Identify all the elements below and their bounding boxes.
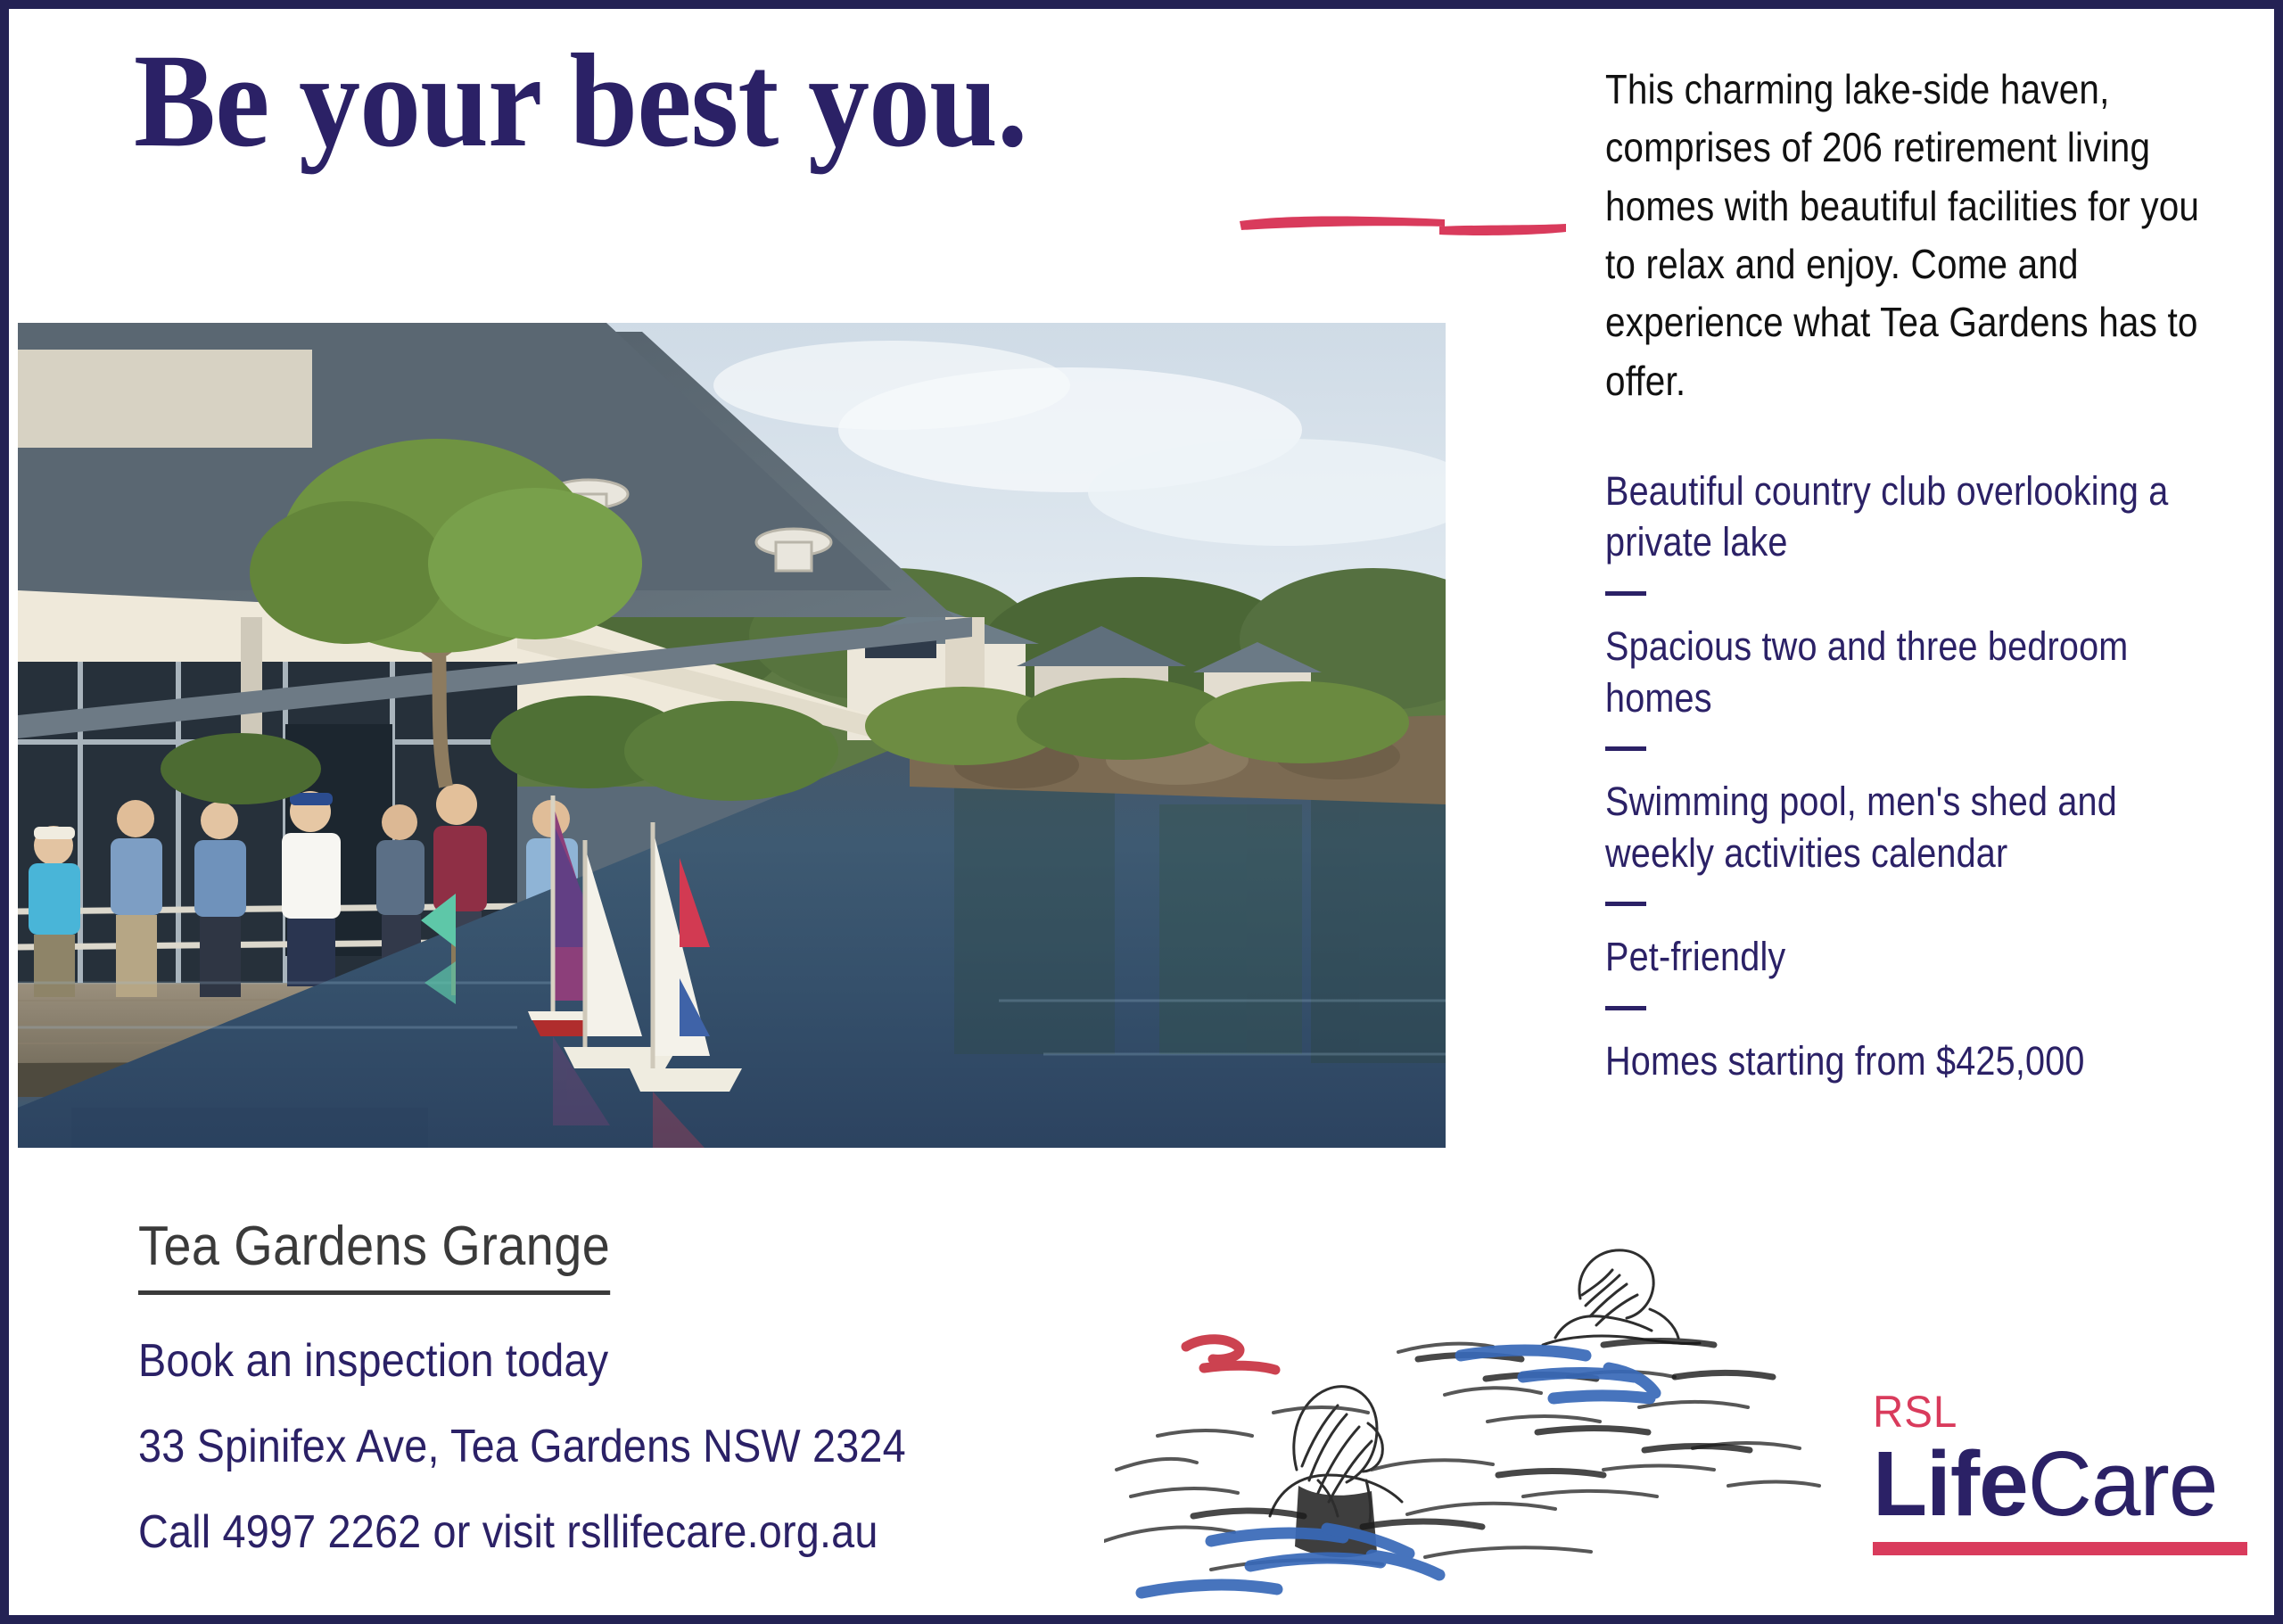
venue-name: Tea Gardens Grange — [138, 1215, 610, 1295]
photo-illustration — [18, 323, 1446, 1148]
feature-item: Spacious two and three bedroom homes — [1605, 621, 2202, 723]
feature-item: Pet-friendly — [1605, 931, 2202, 983]
swimmers-illustration — [1104, 1202, 1826, 1603]
feature-separator — [1605, 591, 1646, 596]
feature-separator — [1605, 1006, 1646, 1010]
contact-phone-website[interactable]: Call 4997 2262 or visit rsllifecare.org.… — [138, 1509, 906, 1555]
feature-item: Beautiful country club overlooking a pri… — [1605, 466, 2202, 568]
feature-separator — [1605, 902, 1646, 906]
advertisement-page: Be your best you. — [0, 0, 2283, 1624]
logo-care-word: Care — [2028, 1432, 2218, 1535]
contact-block: Book an inspection today 33 Spinifex Ave… — [138, 1338, 992, 1595]
red-brush-swoosh-icon — [1238, 210, 1568, 241]
two-swimmers-sketch-icon — [1104, 1202, 1826, 1603]
venue-block: Tea Gardens Grange — [138, 1215, 663, 1295]
headline-block: Be your best you. — [134, 34, 1525, 239]
contact-address: 33 Spinifex Ave, Tea Gardens NSW 2324 — [138, 1423, 906, 1470]
logo-lifecare-text: LifeCare — [1873, 1438, 2245, 1529]
logo-red-bar — [1873, 1542, 2247, 1555]
feature-item: Homes starting from $425,000 — [1605, 1035, 2202, 1087]
contact-cta: Book an inspection today — [138, 1338, 906, 1384]
intro-paragraph: This charming lake-side haven, comprises… — [1605, 61, 2202, 410]
right-column: This charming lake-side haven, comprises… — [1605, 61, 2283, 1087]
logo-life-word: Life — [1873, 1432, 2028, 1535]
feature-item: Swimming pool, men's shed and weekly act… — [1605, 776, 2202, 878]
lake-club-photo — [18, 323, 1446, 1148]
page-title: Be your best you. — [134, 34, 1413, 168]
rsl-lifecare-logo: RSL LifeCare — [1873, 1389, 2256, 1555]
feature-separator — [1605, 746, 1646, 751]
feature-list: Beautiful country club overlooking a pri… — [1605, 466, 2283, 1087]
logo-rsl-text: RSL — [1873, 1389, 2238, 1434]
